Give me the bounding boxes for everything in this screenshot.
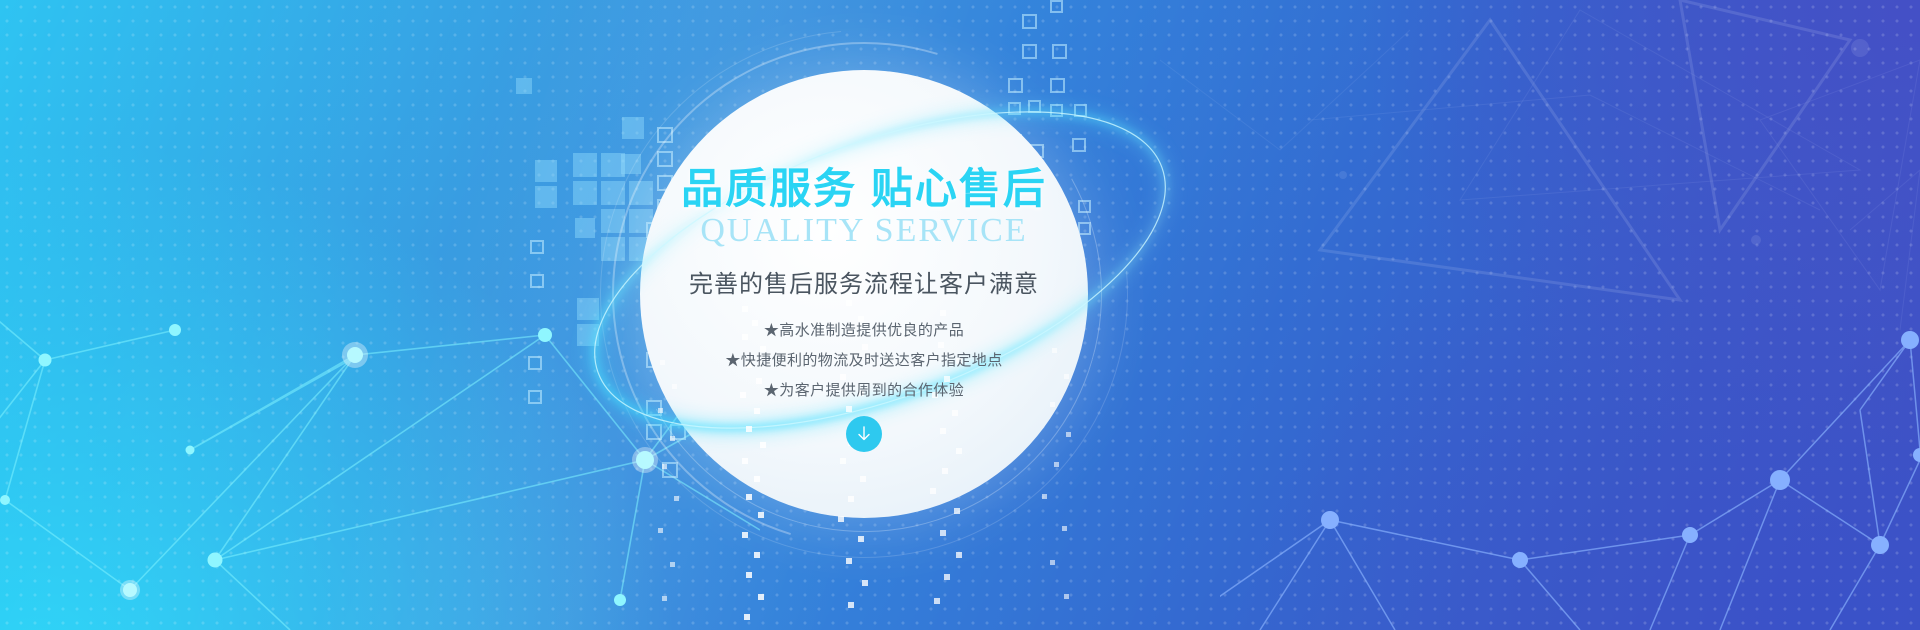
page-title: 品质服务 贴心售后 <box>681 155 1047 216</box>
arrow-down-icon <box>854 424 874 444</box>
scroll-down-button[interactable] <box>846 416 882 452</box>
promo-banner: 品质服务 贴心售后 QUALITY SERVICE 完善的售后服务流程让客户满意… <box>0 0 1920 630</box>
list-item: ★高水准制造提供优良的产品 <box>725 319 1002 340</box>
feature-list: ★高水准制造提供优良的产品 ★快捷便利的物流及时送达客户指定地点 ★为客户提供周… <box>725 319 1002 400</box>
list-item: ★为客户提供周到的合作体验 <box>725 379 1002 400</box>
list-item: ★快捷便利的物流及时送达客户指定地点 <box>725 349 1002 370</box>
page-subtitle-english: QUALITY SERVICE <box>700 212 1027 250</box>
network-constellation-right <box>1220 330 1920 630</box>
tagline: 完善的售后服务流程让客户满意 <box>689 264 1039 299</box>
hero-content: 品质服务 贴心售后 QUALITY SERVICE 完善的售后服务流程让客户满意… <box>640 70 1088 518</box>
